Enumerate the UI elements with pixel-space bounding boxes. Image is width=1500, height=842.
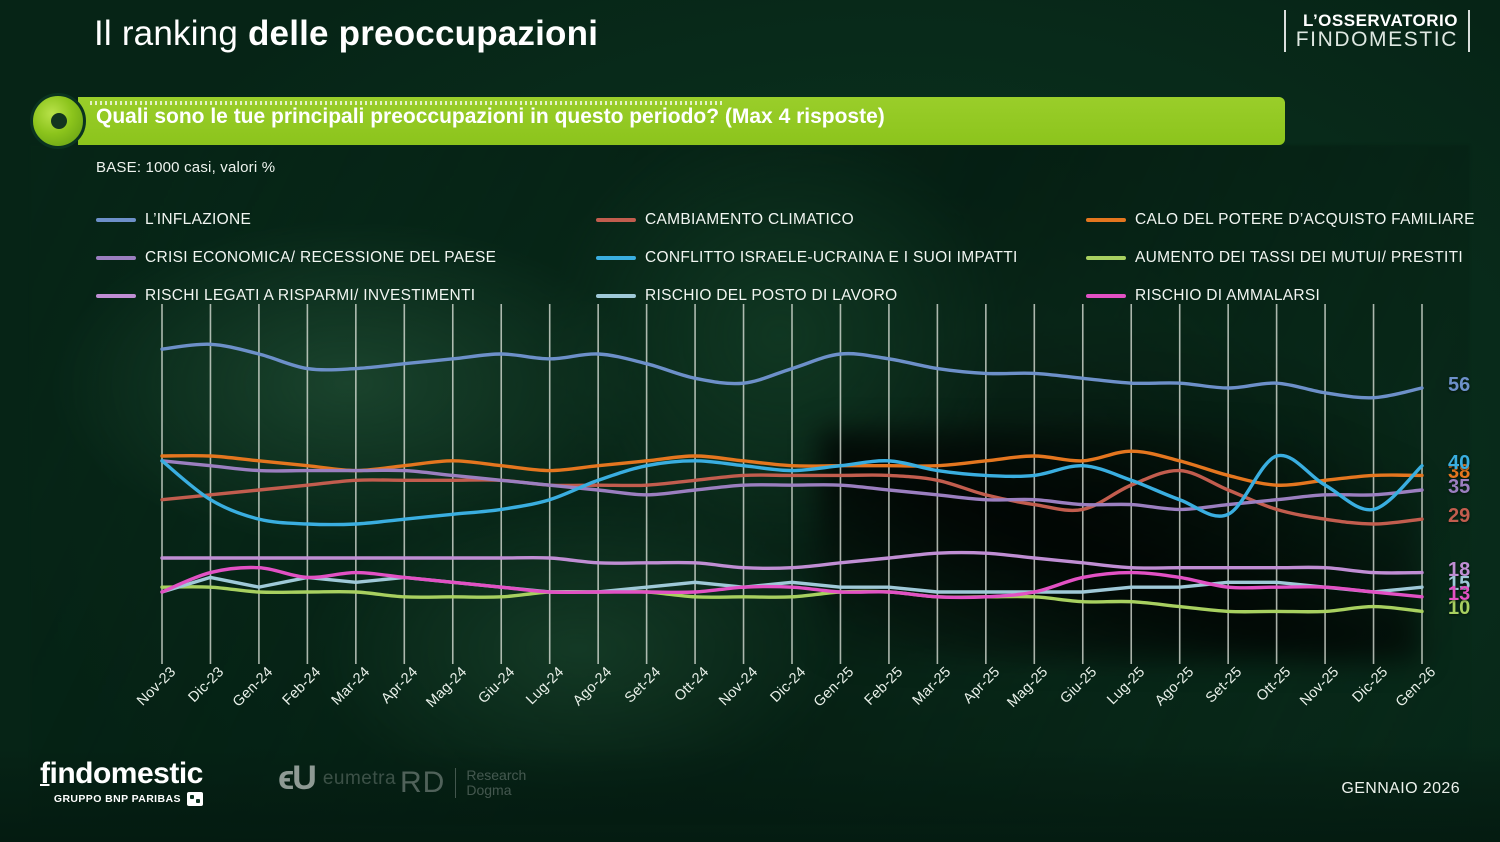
x-axis-tick-label: Mag-24 <box>423 664 470 711</box>
legend-item[interactable]: CRISI ECONOMICA/ RECESSIONE DEL PAESE <box>96 249 596 267</box>
rd-wordmark: Research Dogma <box>455 768 526 797</box>
rd-line-2: Dogma <box>466 782 511 798</box>
series-end-value: 56 <box>1448 374 1470 397</box>
date-label: GENNAIO 2026 <box>1341 780 1460 798</box>
x-axis-tick-label: Giu-25 <box>1057 664 1100 707</box>
legend-swatch-icon <box>596 218 636 222</box>
logo-line-1: L’OSSERVATORIO <box>1296 12 1458 29</box>
findomestic-underline-letter: f <box>40 757 50 790</box>
legend-label: L’INFLAZIONE <box>145 211 251 229</box>
legend-item[interactable]: CALO DEL POTERE D’ACQUISTO FAMILIARE <box>1086 211 1476 229</box>
banner-bullet-icon <box>30 93 86 149</box>
rd-mark-icon: RD <box>400 766 445 800</box>
legend-swatch-icon <box>96 294 136 298</box>
question-banner-body: Quali sono le tue principali preoccupazi… <box>78 97 1285 145</box>
line-chart: 562938354010181513 Nov-23Dic-23Gen-24Feb… <box>66 320 1470 740</box>
series-end-value: 29 <box>1448 505 1470 528</box>
legend-swatch-icon <box>1086 256 1126 260</box>
legend-item[interactable]: RISCHI LEGATI A RISPARMI/ INVESTIMENTI <box>96 287 596 305</box>
x-axis-tick-label: Apr-25 <box>960 664 1003 707</box>
series-end-value: 40 <box>1448 452 1470 475</box>
legend-item[interactable]: RISCHIO DI AMMALARSI <box>1086 287 1476 305</box>
x-axis-tick-label: Ott-24 <box>672 664 713 705</box>
bnp-paribas-text: GRUPPO BNP PARIBAS <box>54 793 181 805</box>
page-title-bold: delle preoccupazioni <box>248 14 598 53</box>
x-axis-tick-label: Gen-26 <box>1393 664 1439 710</box>
legend-item[interactable]: CAMBIAMENTO CLIMATICO <box>596 211 1086 229</box>
x-axis-tick-label: Gen-24 <box>230 664 276 710</box>
legend-label: RISCHIO DEL POSTO DI LAVORO <box>645 287 897 305</box>
x-axis-tick-label: Lug-24 <box>523 664 567 708</box>
eumetra-mark-icon: ϵU <box>278 759 315 798</box>
legend-swatch-icon <box>596 256 636 260</box>
osservatorio-logo: L’OSSERVATORIO FINDOMESTIC <box>1284 10 1470 52</box>
x-axis-tick-label: Feb-25 <box>862 664 907 709</box>
x-axis-tick-label: Feb-24 <box>280 664 325 709</box>
logo-line-2: FINDOMESTIC <box>1296 29 1458 50</box>
footer: findomestic GRUPPO BNP PARIBAS ϵU eumetr… <box>0 746 1500 842</box>
legend-label: CRISI ECONOMICA/ RECESSIONE DEL PAESE <box>145 249 496 267</box>
legend-label: CALO DEL POTERE D’ACQUISTO FAMILIARE <box>1135 211 1475 229</box>
x-axis-tick-label: Ago-24 <box>570 664 615 709</box>
x-axis-tick-label: Nov-25 <box>1297 664 1342 709</box>
x-axis-labels: Nov-23Dic-23Gen-24Feb-24Mar-24Apr-24Mag-… <box>116 664 1452 740</box>
x-axis-tick-label: Dic-23 <box>186 664 228 706</box>
legend-swatch-icon <box>96 218 136 222</box>
x-axis-tick-label: Mar-24 <box>329 664 374 709</box>
x-axis-tick-label: Mag-25 <box>1005 664 1052 711</box>
legend-label: RISCHIO DI AMMALARSI <box>1135 287 1320 305</box>
findomestic-wordmark: findomestic <box>40 757 203 791</box>
chart-svg <box>116 320 1452 660</box>
legend-label: RISCHI LEGATI A RISPARMI/ INVESTIMENTI <box>145 287 475 305</box>
legend-label: CONFLITTO ISRAELE-UCRAINA E I SUOI IMPAT… <box>645 249 1018 267</box>
findomestic-group: GRUPPO BNP PARIBAS <box>40 792 203 806</box>
x-axis-tick-label: Giu-24 <box>476 664 519 707</box>
series-end-value: 13 <box>1448 583 1470 606</box>
legend-row: CRISI ECONOMICA/ RECESSIONE DEL PAESECON… <box>96 239 1476 277</box>
findomestic-rest: indomestic <box>50 757 203 790</box>
legend-swatch-icon <box>96 256 136 260</box>
chart-panel: BASE: 1000 casi, valori % L’INFLAZIONECA… <box>30 145 1470 745</box>
legend-item[interactable]: AUMENTO DEI TASSI DEI MUTUI/ PRESTITI <box>1086 249 1476 267</box>
eumetra-wordmark: eumetra <box>323 768 396 790</box>
chart-legend: L’INFLAZIONECAMBIAMENTO CLIMATICOCALO DE… <box>96 201 1476 315</box>
question-text: Quali sono le tue principali preoccupazi… <box>96 105 885 129</box>
legend-row: RISCHI LEGATI A RISPARMI/ INVESTIMENTIRI… <box>96 277 1476 315</box>
legend-swatch-icon <box>1086 218 1126 222</box>
base-label: BASE: 1000 casi, valori % <box>96 159 275 176</box>
legend-label: AUMENTO DEI TASSI DEI MUTUI/ PRESTITI <box>1135 249 1463 267</box>
x-axis-tick-label: Ago-25 <box>1152 664 1197 709</box>
x-axis-tick-label: Lug-25 <box>1104 664 1148 708</box>
rd-line-1: Research <box>466 767 526 783</box>
page-title: Il ranking delle preoccupazioni <box>94 14 598 54</box>
x-axis-tick-label: Set-24 <box>622 664 664 706</box>
bnp-paribas-icon <box>187 792 203 806</box>
x-axis-tick-label: Apr-24 <box>379 664 422 707</box>
legend-swatch-icon <box>1086 294 1126 298</box>
x-axis-tick-label: Nov-24 <box>716 664 761 709</box>
x-axis-tick-label: Gen-25 <box>811 664 857 710</box>
research-dogma-logo: RD Research Dogma <box>400 766 526 800</box>
x-axis-tick-label: Set-25 <box>1203 664 1245 706</box>
x-axis-tick-label: Dic-24 <box>768 664 810 706</box>
x-axis-tick-label: Dic-25 <box>1349 664 1391 706</box>
question-banner: Quali sono le tue principali preoccupazi… <box>30 97 1285 145</box>
chart-plot-area: 562938354010181513 <box>116 320 1452 660</box>
legend-item[interactable]: RISCHIO DEL POSTO DI LAVORO <box>596 287 1086 305</box>
legend-item[interactable]: CONFLITTO ISRAELE-UCRAINA E I SUOI IMPAT… <box>596 249 1086 267</box>
findomestic-logo: findomestic GRUPPO BNP PARIBAS <box>40 757 203 806</box>
legend-swatch-icon <box>596 294 636 298</box>
eumetra-logo: ϵU eumetra <box>278 759 396 798</box>
legend-row: L’INFLAZIONECAMBIAMENTO CLIMATICOCALO DE… <box>96 201 1476 239</box>
x-axis-tick-label: Ott-25 <box>1253 664 1294 705</box>
series-end-value: 35 <box>1448 476 1470 499</box>
x-axis-tick-label: Nov-23 <box>134 664 179 709</box>
legend-item[interactable]: L’INFLAZIONE <box>96 211 596 229</box>
x-axis-tick-label: Mar-25 <box>910 664 955 709</box>
page-title-light: Il ranking <box>94 14 248 53</box>
legend-label: CAMBIAMENTO CLIMATICO <box>645 211 854 229</box>
